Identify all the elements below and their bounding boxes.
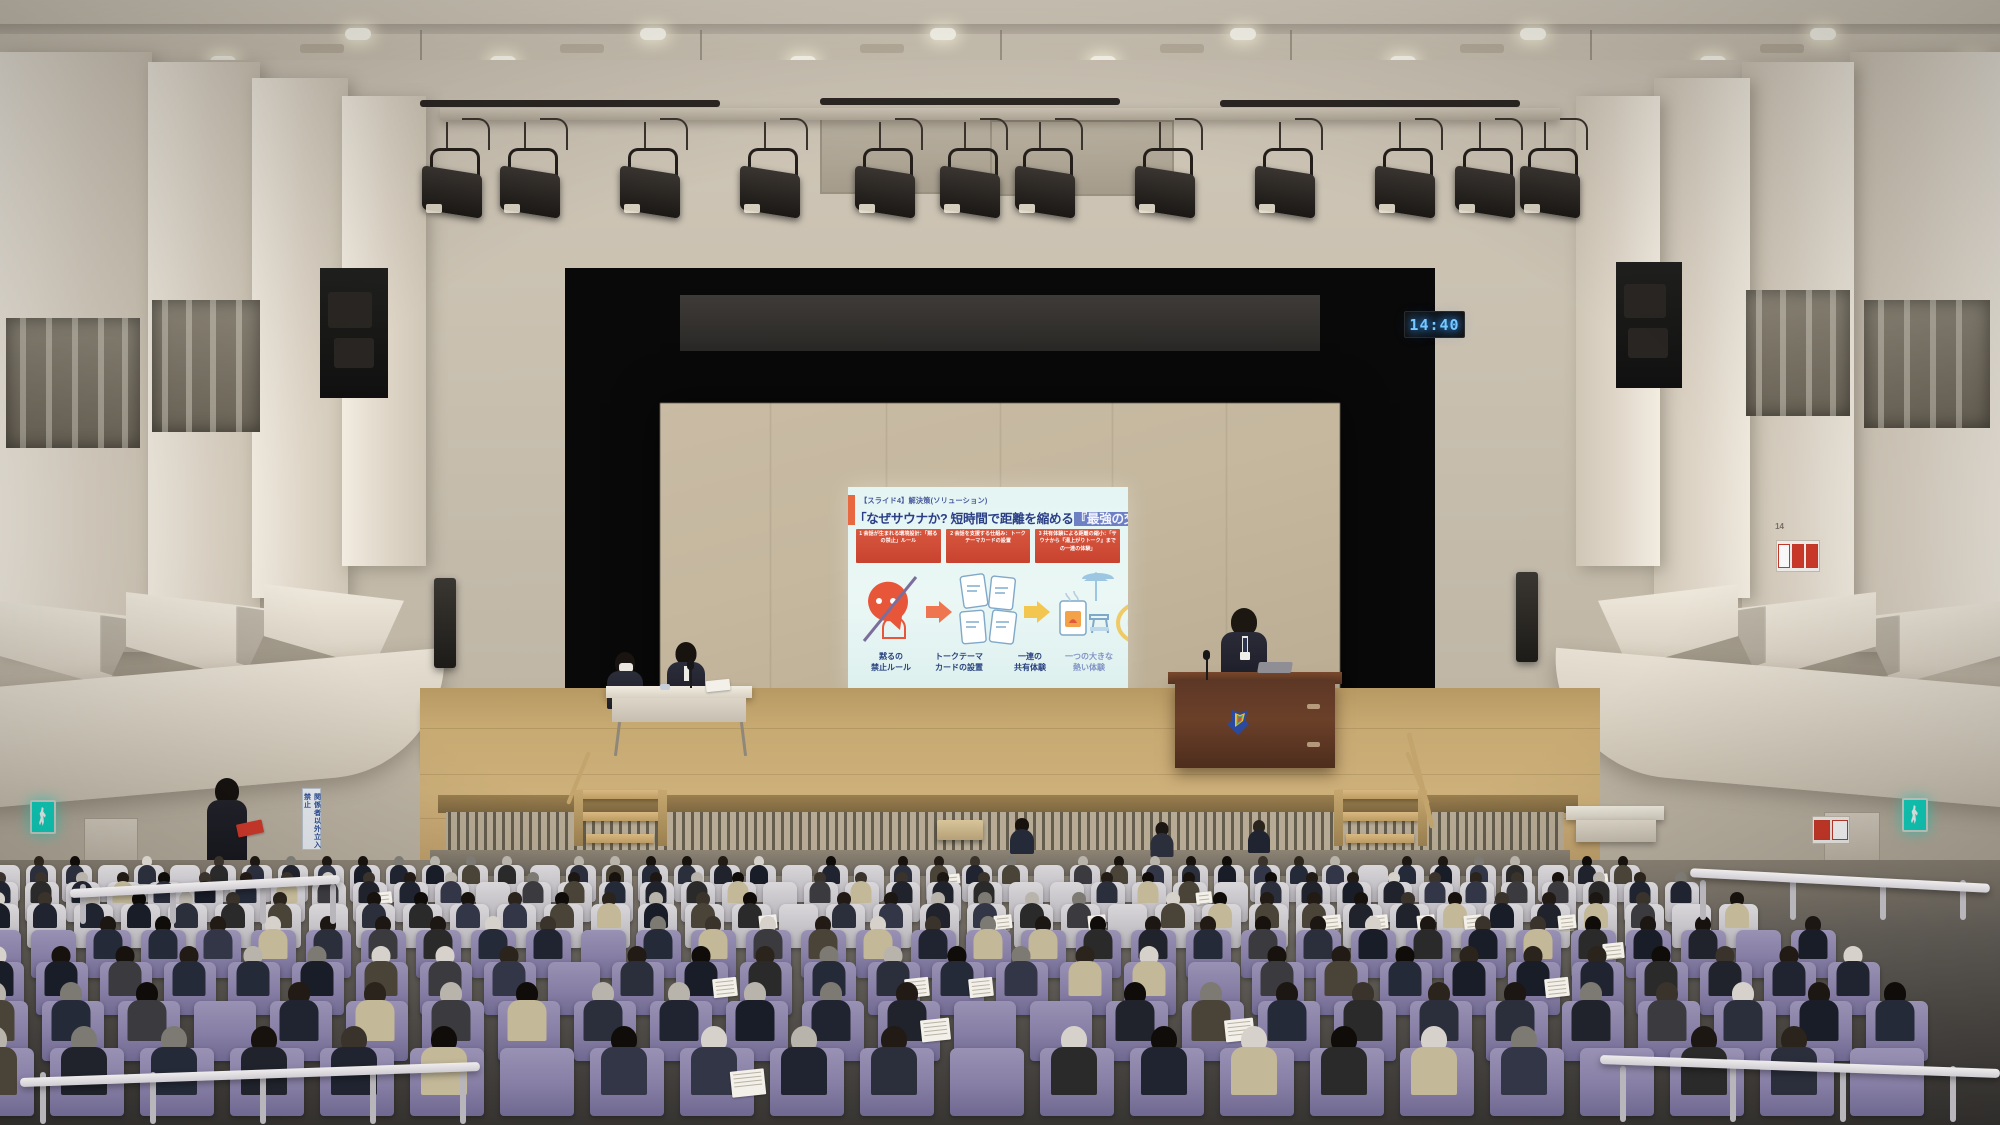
slide-step-boxes: 1 会話が生まれる環境設計：「黙るの禁止」ルール 2 会話を支援する仕組み：トー… <box>856 529 1120 563</box>
pa-speaker-right <box>1516 572 1538 662</box>
program-handout <box>1557 914 1576 930</box>
audience-member <box>1358 916 1387 963</box>
railing-post <box>1620 1066 1626 1122</box>
room-number-label: 14 <box>1775 522 1784 531</box>
no-talking-icon <box>860 571 922 649</box>
panel-table-skirt <box>612 698 746 722</box>
slide-step-box-1: 1 会話が生まれる環境設計：「黙るの禁止」ルール <box>856 529 941 563</box>
audience-member <box>1193 916 1222 963</box>
audience-member <box>533 916 562 963</box>
proscenium-header-valance <box>680 295 1320 351</box>
laptop-on-podium <box>1257 662 1293 673</box>
audience-member <box>1231 1026 1277 1101</box>
ceiling-downlight <box>640 28 666 40</box>
ceiling-vent <box>1760 44 1804 53</box>
wall-alcove-right-1 <box>1864 300 1990 428</box>
audience-member <box>1723 982 1762 1046</box>
slide-title: 「なぜサウナか? 短時間で距離を縮める『最強の交流装置』」 <box>854 508 1124 527</box>
slide-title-highlight: 『最強の交流装置』 <box>1074 512 1128 526</box>
audience-member <box>1137 872 1158 906</box>
railing-post <box>1840 1066 1846 1122</box>
audience-member <box>462 856 480 886</box>
ceiling-vent <box>1160 44 1204 53</box>
audience-member <box>809 872 830 906</box>
audience-member <box>973 916 1002 963</box>
slide-caption-2: トークテーマ カードの設置 <box>924 652 994 674</box>
slide-kicker: 【スライド4】解決策(ソリューション) <box>860 496 1120 506</box>
audience-member <box>203 916 232 963</box>
back-table-right <box>1566 806 1664 820</box>
audience-member <box>1670 872 1691 906</box>
table-mic-head <box>687 660 694 670</box>
audience-member <box>236 946 269 1000</box>
audience-member <box>1836 946 1869 1000</box>
arrow-1-icon <box>926 601 952 623</box>
audience-member <box>61 1026 107 1101</box>
topic-cards-icon <box>958 571 1020 649</box>
slide-icon-row <box>854 567 1122 652</box>
water-cup <box>660 684 670 690</box>
audience-member <box>507 982 546 1046</box>
audience-member <box>0 892 10 931</box>
railing-post <box>330 884 336 924</box>
ceiling-downlight <box>1230 28 1256 40</box>
program-handout <box>968 977 994 998</box>
program-handout <box>1544 977 1570 998</box>
audience-member <box>1150 822 1173 860</box>
audience-member <box>1191 982 1230 1046</box>
side-notice-text: 関係者以外立入禁止 <box>302 793 322 849</box>
audience-member <box>1004 946 1037 1000</box>
ceiling-vent <box>1460 44 1504 53</box>
audience-member <box>735 982 774 1046</box>
audience-member <box>1096 872 1117 906</box>
slide-title-part2: 短時間で距離を縮める <box>951 512 1074 526</box>
stage-prop-box <box>937 820 983 840</box>
lighting-booth-right <box>1616 262 1682 388</box>
audience-member <box>940 946 973 1000</box>
audience-member <box>151 1026 197 1101</box>
podium-mic-head <box>1203 650 1210 660</box>
pa-speaker-left <box>434 578 456 668</box>
side-notice-sign-left: 関係者以外立入禁止 <box>302 788 321 850</box>
ceiling-vent <box>560 44 604 53</box>
wall-alcove-right-2 <box>1746 290 1850 416</box>
audience-member <box>597 892 621 931</box>
audience-member <box>1248 820 1270 856</box>
railing-post <box>370 1072 376 1124</box>
audience-member <box>1388 946 1421 1000</box>
audience-member <box>691 1026 737 1101</box>
slide-captions: 黙るの 禁止ルール トークテーマ カードの設置 一連の 共有体験 一つの大きな … <box>854 652 1122 682</box>
ceiling-vent <box>300 44 344 53</box>
slide-step-box-2: 2 会話を支援する仕組み：トークテーマカードの設置 <box>946 529 1031 563</box>
audience-member <box>456 892 480 931</box>
ceiling-downlight <box>930 28 956 40</box>
program-handout <box>730 1068 767 1097</box>
audience-member <box>33 892 57 931</box>
podium-emblem-icon <box>1226 706 1254 736</box>
back-table-right-skirt <box>1576 820 1656 842</box>
audience-member <box>601 1026 647 1101</box>
table-mic-stand <box>690 668 692 688</box>
wall-alcove-left-2 <box>152 300 260 432</box>
auditorium-seat <box>1850 1048 1924 1116</box>
ceiling-downlight <box>1520 28 1546 40</box>
railing-post <box>1700 880 1706 920</box>
audience-member <box>1068 946 1101 1000</box>
audience-member <box>1321 1026 1367 1101</box>
audience-member <box>781 1026 827 1101</box>
exit-sign-right <box>1902 798 1928 832</box>
hot-steam-icon <box>1116 571 1128 649</box>
audience-member <box>1424 872 1445 906</box>
audience-member <box>1051 1026 1097 1101</box>
wall-alcove-left-1 <box>6 318 140 448</box>
audience-member <box>871 1026 917 1101</box>
sauna-lounge-icon <box>1054 571 1116 649</box>
railing-post <box>460 1072 466 1124</box>
audience-member <box>1465 872 1486 906</box>
railing-post <box>1790 880 1796 920</box>
slide-caption-4: 一つの大きな 熱い体験 <box>1054 652 1124 674</box>
exit-sign-left <box>30 800 56 834</box>
clock-time: 14:40 <box>1409 316 1459 334</box>
audience-member <box>1411 1026 1457 1101</box>
arrow-2-icon <box>1024 601 1050 623</box>
auditorium-seat <box>500 1048 574 1116</box>
railing-post <box>260 1072 266 1124</box>
slide-title-part1: 「なぜサウナか? <box>854 512 947 526</box>
audience-member <box>1725 892 1749 931</box>
audience-member <box>174 892 198 931</box>
auditorium-photo: 【スライド4】解決策(ソリューション) 「なぜサウナか? 短時間で距離を縮める『… <box>0 0 2000 1125</box>
railing-post <box>260 884 266 924</box>
projected-slide: 【スライド4】解決策(ソリューション) 「なぜサウナか? 短時間で距離を縮める『… <box>848 487 1128 692</box>
audience-member <box>1571 982 1610 1046</box>
wall-notice-right-lower <box>1812 816 1850 844</box>
audience-member <box>1010 818 1034 857</box>
audience-member <box>1141 1026 1187 1101</box>
podium-mic-stand <box>1206 658 1208 680</box>
wooden-podium <box>1175 680 1335 768</box>
slide-caption-1: 黙るの 禁止ルール <box>856 652 926 674</box>
lighting-booth-left <box>320 268 388 398</box>
railing-post <box>1730 1066 1736 1122</box>
audience-member <box>1875 982 1914 1046</box>
ceiling-downlight <box>345 28 371 40</box>
program-handout <box>920 1018 951 1043</box>
audience-member <box>750 856 768 886</box>
audience-member <box>172 946 205 1000</box>
audience-member <box>620 946 653 1000</box>
stage-clock: 14:40 <box>1404 311 1465 338</box>
wall-warning-notice <box>1776 540 1820 572</box>
audience-member <box>1501 1026 1547 1101</box>
ceiling-downlight <box>1810 28 1836 40</box>
ceiling-vent <box>860 44 904 53</box>
auditorium-seat <box>950 1048 1024 1116</box>
slide-step-box-3: 3 共有体験による距離の縮小：「サウナから『湯上がりトーク』までの一連の体験」 <box>1035 529 1120 563</box>
audience-member <box>0 1026 17 1101</box>
